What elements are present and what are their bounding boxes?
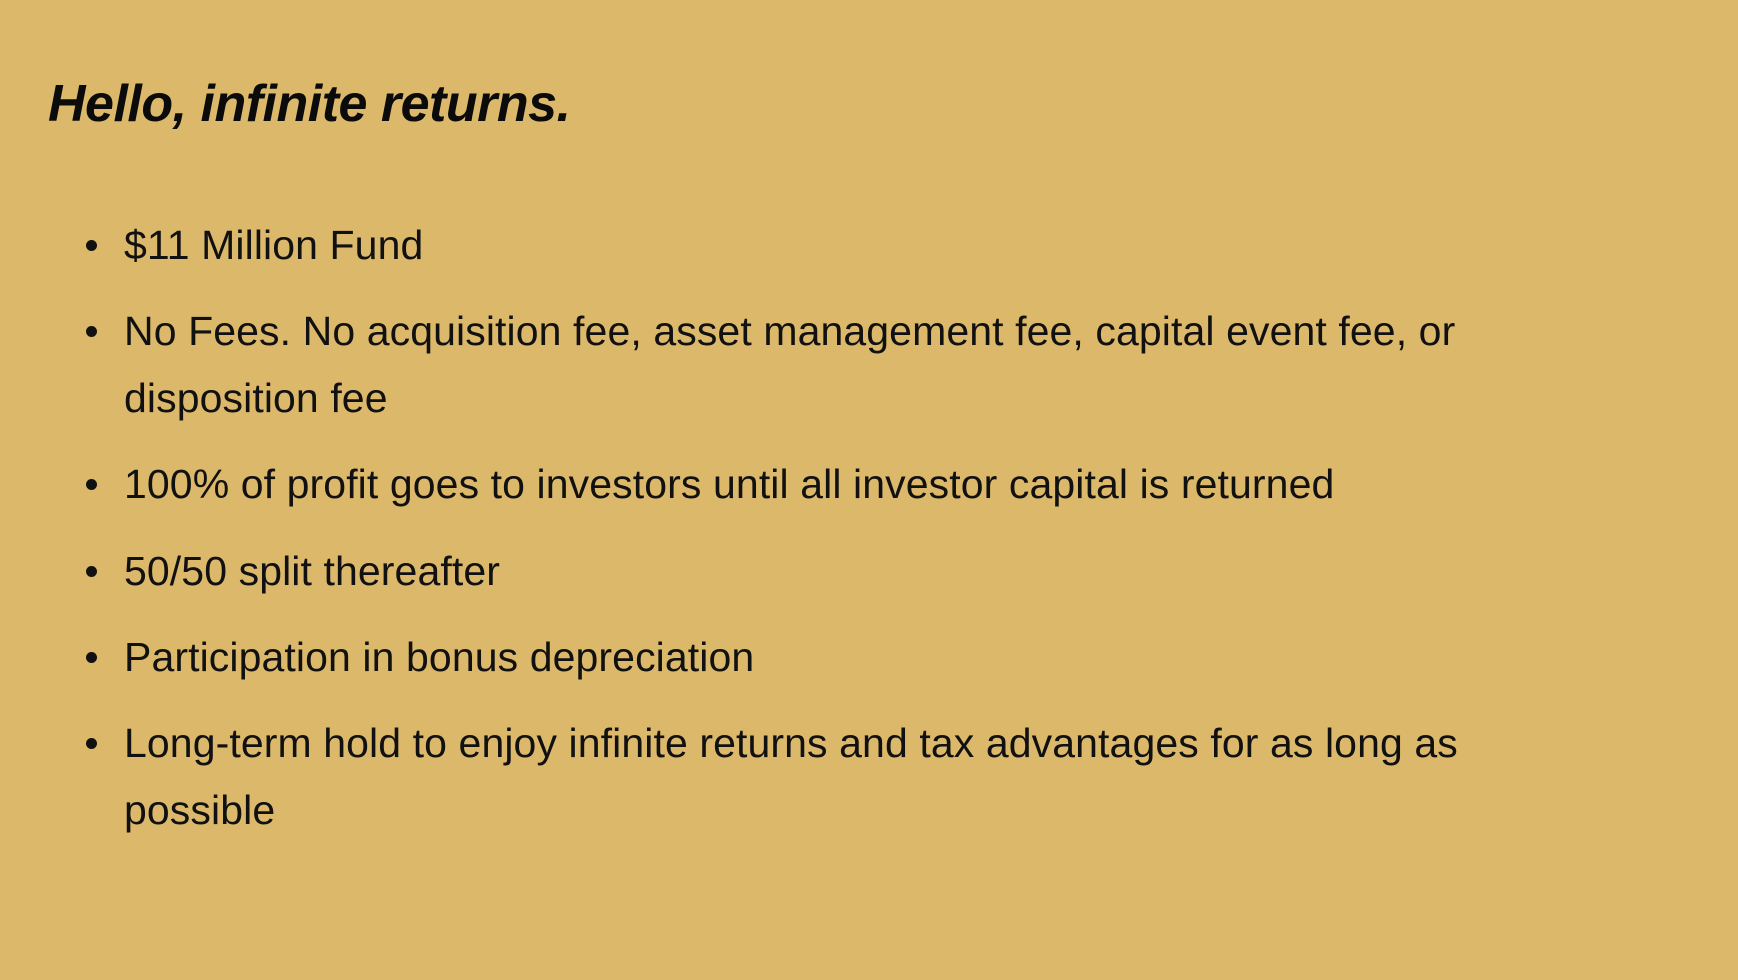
page-title: Hello, infinite returns. <box>48 76 571 132</box>
list-item: No Fees. No acquisition fee, asset manag… <box>78 298 1538 431</box>
list-item: 50/50 split thereafter <box>78 538 1538 604</box>
bullet-point-icon <box>86 738 97 749</box>
list-item-label: 100% of profit goes to investors until a… <box>124 451 1444 517</box>
bullet-point-icon <box>86 240 97 251</box>
bullet-point-icon <box>86 479 97 490</box>
bullet-point-icon <box>86 566 97 577</box>
list-item-label: 50/50 split thereafter <box>124 538 1494 604</box>
bullet-point-icon <box>86 652 97 663</box>
list-item-label: Long-term hold to enjoy infinite returns… <box>124 710 1524 843</box>
list-item: 100% of profit goes to investors until a… <box>78 451 1538 517</box>
bullet-point-icon <box>86 326 97 337</box>
list-item-label: Participation in bonus depreciation <box>124 624 1494 690</box>
list-item: $11 Million Fund <box>78 212 1538 278</box>
presentation-slide: Hello, infinite returns. $11 Million Fun… <box>0 0 1738 980</box>
list-item: Long-term hold to enjoy infinite returns… <box>78 710 1538 843</box>
list-item-label: No Fees. No acquisition fee, asset manag… <box>124 298 1524 431</box>
list-item-label: $11 Million Fund <box>124 212 1494 278</box>
list-item: Participation in bonus depreciation <box>78 624 1538 690</box>
feature-bullet-list: $11 Million Fund No Fees. No acquisition… <box>78 212 1538 843</box>
